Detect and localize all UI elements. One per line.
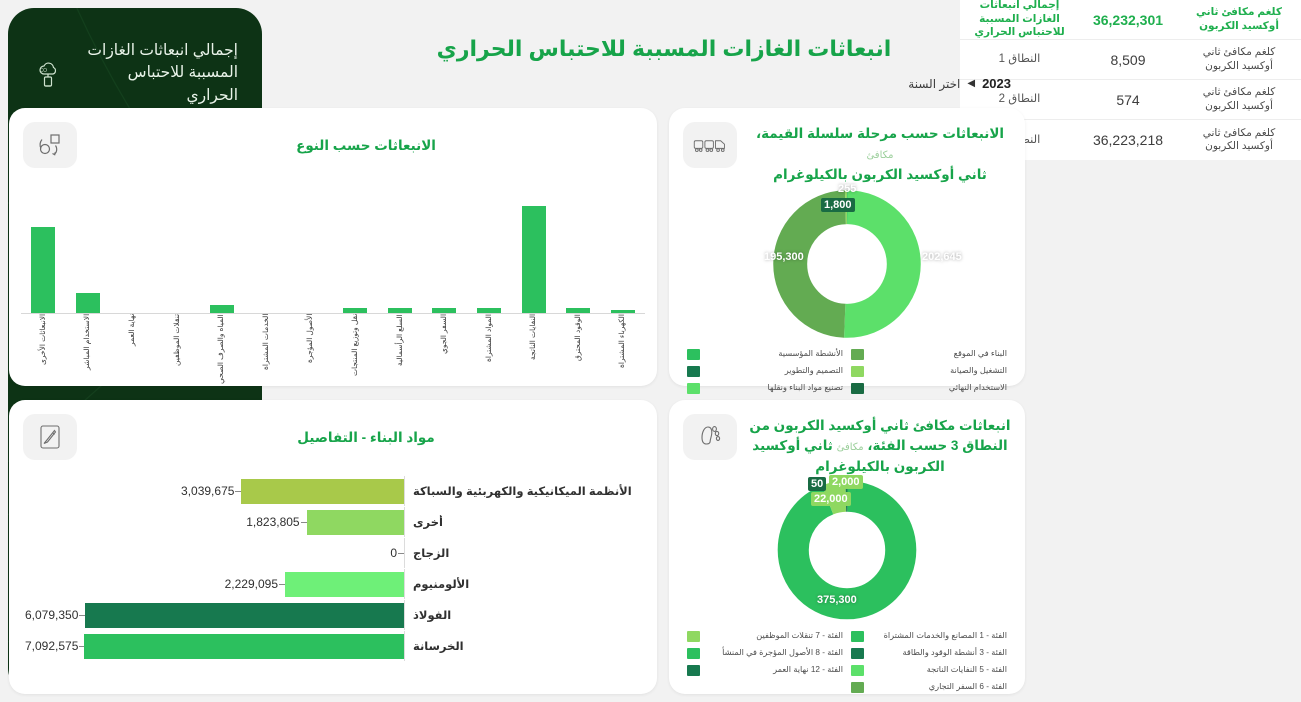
legend-label: التشغيل والصيانة bbox=[870, 366, 1007, 376]
legend-label: الفئة - 8 الأصول المؤجرة في المنشأ bbox=[706, 648, 843, 658]
bar bbox=[85, 603, 404, 628]
value-chain-legend: البناء في الموقع الأنشطة المؤسسية التشغي… bbox=[669, 339, 1025, 406]
bar bbox=[84, 634, 404, 659]
card-title-line1: الانبعاثات حسب مرحلة سلسلة القيمة، bbox=[756, 126, 1004, 141]
bar-chart-x-axis-labels: الكهرباء المشتراة الوقود المحترق النفايا… bbox=[21, 314, 645, 406]
legend-swatch bbox=[687, 366, 700, 377]
axis-tick-label: نهاية العمر bbox=[128, 314, 137, 404]
bar-column bbox=[65, 194, 110, 313]
legend-label: الفئة - 1 المصانع والخدمات المشتراة bbox=[870, 631, 1007, 641]
axis-tick-label: نقل وتوزيع المنتجات bbox=[351, 314, 360, 404]
kpi-unit: كلغم مكافئ ثاني أوكسيد الكربون bbox=[1187, 6, 1291, 32]
card-header: مواد البناء - التفاصيل bbox=[9, 400, 657, 460]
bar-category-label: الألومنيوم bbox=[405, 577, 641, 591]
bar-row: الخرسانة 7,092,575 bbox=[25, 631, 641, 661]
card-header: الانبعاثات حسب مرحلة سلسلة القيمة، مكافئ… bbox=[669, 108, 1025, 185]
dashboard-root: إجمالي انبعاثات الغازات المسببة للاحتباس… bbox=[0, 0, 1301, 702]
bar-column bbox=[467, 194, 512, 313]
bars-track bbox=[21, 194, 645, 313]
legend-item: الفئة - 5 النفايات الناتجة bbox=[847, 663, 1011, 678]
bar-value-label: 7,092,575 bbox=[25, 639, 79, 653]
bar bbox=[307, 510, 404, 535]
bar bbox=[76, 293, 100, 313]
legend-label: البناء في الموقع bbox=[870, 349, 1007, 359]
bar-category-label: الزجاج bbox=[405, 546, 641, 560]
value-chain-donut-chart: 255 1,800 202,645 195,300 bbox=[669, 189, 1025, 339]
card-title: مواد البناء - التفاصيل bbox=[89, 414, 643, 448]
bar-column bbox=[600, 194, 645, 313]
bar-value-label: 0 bbox=[390, 546, 398, 560]
bar bbox=[210, 305, 234, 313]
card-scope3-by-category: انبعاثات مكافئ ثاني أوكسيد الكربون من ال… bbox=[669, 400, 1025, 694]
legend-label: الفئة - 6 السفر التجاري bbox=[870, 682, 1007, 692]
kpi-value: 36,223,218 bbox=[1069, 132, 1187, 148]
card-title: انبعاثات مكافئ ثاني أوكسيد الكربون من ال… bbox=[749, 414, 1011, 477]
donut-slice-corporate bbox=[790, 207, 904, 321]
bar-tick bbox=[79, 646, 84, 647]
bar-category-label: الفولاذ bbox=[405, 608, 641, 622]
bar-column bbox=[110, 194, 155, 313]
footprint-icon bbox=[683, 414, 737, 460]
year-selector-label: اختر السنة bbox=[908, 77, 960, 91]
legend-swatch bbox=[851, 349, 864, 360]
legend-item: الفئة - 7 تنقلات الموظفين bbox=[683, 629, 847, 644]
kpi-value: 574 bbox=[1069, 92, 1187, 108]
legend-item: التشغيل والصيانة bbox=[847, 364, 1011, 379]
axis-baseline bbox=[21, 313, 645, 314]
bar-column bbox=[21, 194, 66, 313]
axis-tick-label: المواد المشتراة bbox=[485, 314, 494, 404]
legend-item: الأنشطة المؤسسية bbox=[683, 347, 847, 362]
svg-text:CO: CO bbox=[40, 68, 48, 74]
ruler-pencil-icon bbox=[23, 414, 77, 460]
legend-item: التصميم والتطوير bbox=[683, 364, 847, 379]
legend-item: البناء في الموقع bbox=[847, 347, 1011, 362]
axis-tick-label: النفايات الناتجة bbox=[529, 314, 538, 404]
bar-column bbox=[511, 194, 556, 313]
bar-track: 6,079,350 bbox=[25, 600, 405, 630]
kpi-value: 8,509 bbox=[1069, 52, 1187, 68]
bar-column bbox=[422, 194, 467, 313]
donut-svg bbox=[776, 479, 918, 621]
bar-category-label: الأنظمة الميكانيكية والكهربئية والسباكة bbox=[405, 484, 641, 498]
bar-category-label: الخرسانة bbox=[405, 639, 641, 653]
bar-column bbox=[199, 194, 244, 313]
legend-label: تصنيع مواد البناء ونقلها bbox=[706, 383, 843, 393]
recycle-arrow-icon bbox=[23, 122, 77, 168]
kpi-unit: كلغم مكافئ ثاني أوكسيد الكربون bbox=[1187, 127, 1291, 153]
donut-slice-category3 bbox=[793, 496, 901, 604]
axis-tick-label: السلع الرأسمالية bbox=[396, 314, 405, 404]
bar-row: أخرى 1,823,805 bbox=[25, 507, 641, 537]
legend-swatch bbox=[687, 383, 700, 394]
kpi-unit: كلغم مكافئ ثاني أوكسيد الكربون bbox=[1187, 86, 1291, 112]
donut-svg bbox=[772, 189, 922, 339]
card-title-line3: ثاني أوكسيد bbox=[752, 438, 833, 453]
axis-tick-label: المياه والصرف الصحي bbox=[217, 314, 226, 404]
card-header: انبعاثات مكافئ ثاني أوكسيد الكربون من ال… bbox=[669, 400, 1025, 477]
bar-tick bbox=[235, 491, 241, 492]
chevron-left-icon: ◀ bbox=[967, 78, 975, 89]
bar-value-label: 3,039,675 bbox=[181, 484, 235, 498]
card-title: الانبعاثات حسب مرحلة سلسلة القيمة، مكافئ… bbox=[749, 122, 1011, 185]
truck-stages-icon bbox=[683, 122, 737, 168]
year-value: 2023 bbox=[982, 76, 1011, 91]
table-row: كلغم مكافئ ثاني أوكسيد الكربون 36,232,30… bbox=[960, 0, 1301, 40]
bar-column bbox=[378, 194, 423, 313]
bar-row: الفولاذ 6,079,350 bbox=[25, 600, 641, 630]
legend-label: التصميم والتطوير bbox=[706, 366, 843, 376]
legend-swatch bbox=[851, 682, 864, 693]
kpi-label: إجمالي انبعاثات الغازات المسببة للاحتباس… bbox=[970, 0, 1069, 40]
card-title: الانبعاثات حسب النوع bbox=[89, 122, 643, 156]
legend-label: الأنشطة المؤسسية bbox=[706, 349, 843, 359]
bar bbox=[522, 206, 546, 313]
bar bbox=[241, 479, 404, 504]
card-title-unit-note: مكافئ bbox=[866, 150, 893, 161]
bar-column bbox=[155, 194, 200, 313]
bar-column bbox=[288, 194, 333, 313]
bar bbox=[31, 227, 55, 313]
card-emissions-by-type: الانبعاثات حسب النوع bbox=[9, 108, 657, 386]
bar-column bbox=[556, 194, 601, 313]
axis-tick-label: السفر الجوي bbox=[440, 314, 449, 404]
legend-item: الفئة - 12 نهاية العمر bbox=[683, 663, 847, 678]
bar-track: 2,229,095 bbox=[25, 569, 405, 599]
bar-category-label: أخرى bbox=[405, 515, 641, 529]
card-title-unit-note: مكافئ bbox=[837, 442, 864, 453]
axis-tick-label: تنقلات الموظفين bbox=[173, 314, 182, 404]
card-title-line2: النطاق 3 حسب الفئة، bbox=[867, 438, 1007, 453]
table-row: كلغم مكافئ ثاني أوكسيد الكربون 8,509 الن… bbox=[960, 40, 1301, 80]
donut-label-202645: 202,645 bbox=[922, 251, 962, 263]
sidebar-brand-label: إجمالي انبعاثات الغازات المسببة للاحتباس… bbox=[78, 40, 238, 107]
bar-row: الألومنيوم 2,229,095 bbox=[25, 569, 641, 599]
axis-tick-label: الأصول المؤجرة bbox=[306, 314, 315, 404]
emissions-by-type-bar-chart bbox=[21, 194, 645, 314]
bar-value-label: 1,823,805 bbox=[246, 515, 300, 529]
kpi-label: النطاق 2 bbox=[970, 92, 1069, 107]
axis-tick-label: الوقود المحترق bbox=[574, 314, 583, 404]
bar-tick bbox=[301, 522, 307, 523]
axis-tick-label: الخدمات المشتراة bbox=[262, 314, 271, 404]
bar-tick bbox=[398, 553, 404, 554]
bar-track: 7,092,575 bbox=[25, 631, 405, 661]
axis-tick-label: الكهرباء المشتراة bbox=[618, 314, 627, 404]
card-title-line2: ثاني أوكسيد الكربون بالكيلوغرام bbox=[773, 167, 987, 182]
card-header: الانبعاثات حسب النوع bbox=[9, 108, 657, 168]
legend-swatch bbox=[851, 648, 864, 659]
legend-label: الفئة - 7 تنقلات الموظفين bbox=[706, 631, 843, 641]
legend-swatch bbox=[687, 631, 700, 642]
scope3-legend: الفئة - 1 المصانع والخدمات المشتراة الفئ… bbox=[669, 621, 1025, 702]
bar-column bbox=[333, 194, 378, 313]
bar-row: الزجاج 0 bbox=[25, 538, 641, 568]
legend-label: الاستخدام النهائي bbox=[870, 383, 1007, 393]
card-title-line1: انبعاثات مكافئ ثاني أوكسيد الكربون من bbox=[749, 418, 1010, 433]
sidebar-brand: إجمالي انبعاثات الغازات المسببة للاحتباس… bbox=[22, 34, 248, 113]
bar-value-label: 2,229,095 bbox=[225, 577, 279, 591]
card-value-chain-emissions: الانبعاثات حسب مرحلة سلسلة القيمة، مكافئ… bbox=[669, 108, 1025, 386]
legend-swatch bbox=[851, 631, 864, 642]
cloud-co2-icon: CO bbox=[28, 54, 68, 94]
legend-item: تصنيع مواد البناء ونقلها bbox=[683, 381, 847, 396]
legend-item: الفئة - 6 السفر التجاري bbox=[847, 680, 1011, 695]
axis-tick-label: الانبعاثات الأخرى bbox=[39, 314, 48, 404]
legend-swatch bbox=[851, 366, 864, 377]
legend-item: الفئة - 1 المصانع والخدمات المشتراة bbox=[847, 629, 1011, 644]
bar-track: 3,039,675 bbox=[25, 476, 405, 506]
bar-column bbox=[244, 194, 289, 313]
legend-swatch bbox=[687, 665, 700, 676]
bar-track: 0 bbox=[25, 538, 405, 568]
bar-track: 1,823,805 bbox=[25, 507, 405, 537]
legend-swatch bbox=[687, 648, 700, 659]
bar-value-label: 6,079,350 bbox=[25, 608, 79, 622]
legend-item: الاستخدام النهائي bbox=[847, 381, 1011, 396]
kpi-unit: كلغم مكافئ ثاني أوكسيد الكربون bbox=[1187, 46, 1291, 72]
bar-tick bbox=[79, 615, 85, 616]
legend-swatch bbox=[687, 349, 700, 360]
legend-item: الفئة - 8 الأصول المؤجرة في المنشأ bbox=[683, 646, 847, 661]
bar-tick bbox=[279, 584, 285, 585]
legend-swatch bbox=[851, 665, 864, 676]
year-selector[interactable]: 2023 ◀ اختر السنة bbox=[908, 76, 1011, 91]
legend-label: الفئة - 5 النفايات الناتجة bbox=[870, 665, 1007, 675]
page-title: انبعاثات الغازات المسببة للاحتباس الحرار… bbox=[339, 36, 989, 62]
bar-row: الأنظمة الميكانيكية والكهربئية والسباكة … bbox=[25, 476, 641, 506]
legend-label: الفئة - 3 أنشطة الوقود والطاقة bbox=[870, 648, 1007, 658]
bar bbox=[285, 572, 404, 597]
card-title-line4: الكربون بالكيلوغرام bbox=[815, 459, 944, 474]
kpi-value: 36,232,301 bbox=[1069, 12, 1187, 28]
card-building-materials-detail: مواد البناء - التفاصيل الأنظمة الميكانيك… bbox=[9, 400, 657, 694]
legend-label: الفئة - 12 نهاية العمر bbox=[706, 665, 843, 675]
scope3-donut-chart: 50 2,000 22,000 375,300 bbox=[669, 479, 1025, 621]
building-materials-bar-chart: الأنظمة الميكانيكية والكهربئية والسباكة … bbox=[9, 460, 657, 672]
legend-item: الفئة - 3 أنشطة الوقود والطاقة bbox=[847, 646, 1011, 661]
axis-tick-label: الاستخدام المباشر bbox=[83, 314, 92, 404]
legend-swatch bbox=[851, 383, 864, 394]
